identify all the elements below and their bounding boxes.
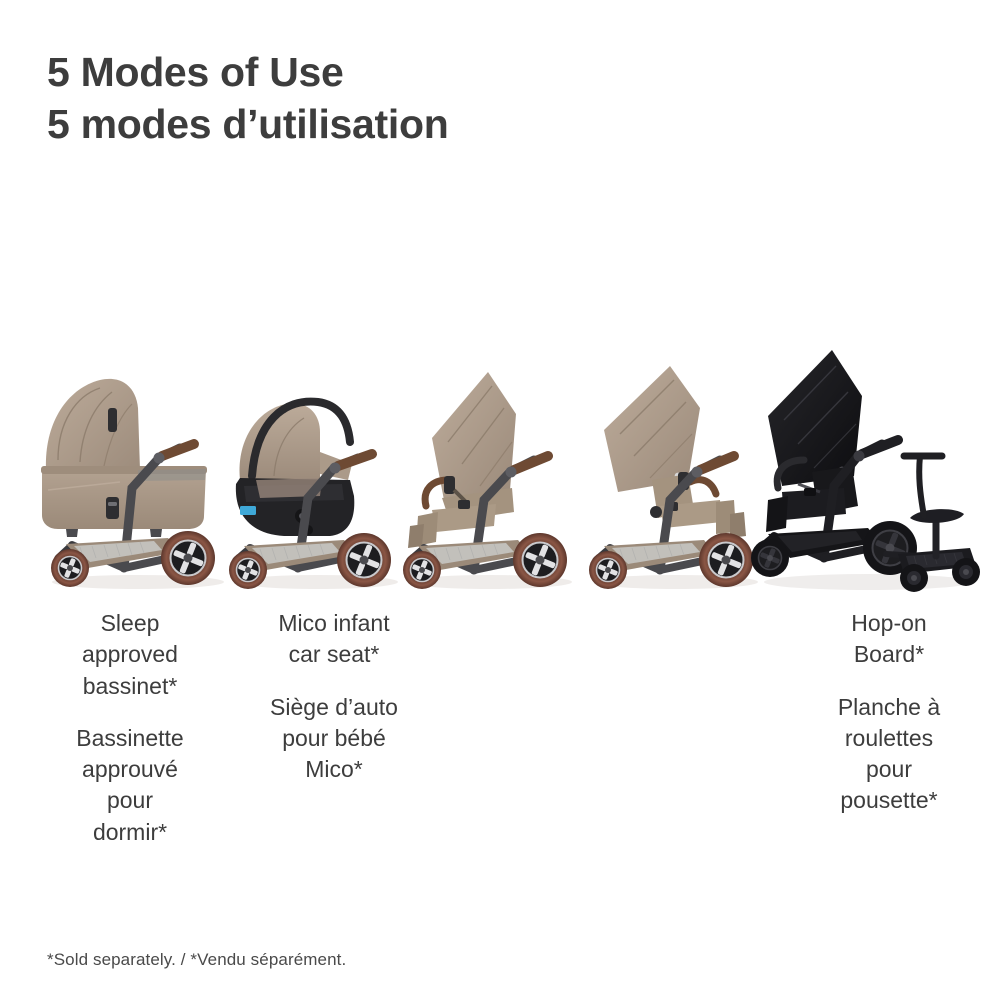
handle-post xyxy=(919,456,924,516)
handlebar-grip xyxy=(862,440,898,454)
caption-hop-on-board-fr: Planche à roulettes pour pousette* xyxy=(794,692,984,817)
rear-wheel xyxy=(513,533,567,587)
page-title-line-fr: 5 modes d’utilisation xyxy=(47,98,747,150)
page-title-line-en: 5 Modes of Use xyxy=(47,46,747,98)
handlebar-grip xyxy=(338,454,372,466)
bassinet-hood xyxy=(46,379,140,470)
caption-car-seat-fr: Siège d’auto pour bébé Mico* xyxy=(234,692,434,786)
caption-bassinet-fr: Bassinette approuvé pour dormir* xyxy=(30,723,230,848)
product-image-seat-world-facing xyxy=(578,330,773,600)
caption-row: Sleep approved bassinet* Bassinette appr… xyxy=(0,608,1000,848)
caption-car-seat-en: Mico infant car seat* xyxy=(234,608,434,671)
caption-seat-world-facing xyxy=(614,608,794,848)
product-label xyxy=(240,506,256,515)
rear-wheel xyxy=(699,533,753,587)
saddle-seat xyxy=(910,509,964,523)
caption-bassinet: Sleep approved bassinet* Bassinette appr… xyxy=(30,608,230,848)
bumper-bar xyxy=(690,480,716,494)
footrest xyxy=(766,496,788,532)
product-image-hop-on-board xyxy=(748,310,988,600)
handlebar-grip xyxy=(700,456,734,470)
handlebar-grip xyxy=(162,444,194,456)
product-image-seat-parent-facing xyxy=(392,330,587,600)
caption-hop-on-board-en: Hop-on Board* xyxy=(794,608,984,671)
caption-car-seat: Mico infant car seat* Siège d’auto pour … xyxy=(234,608,434,848)
footnote: *Sold separately. / *Vendu séparément. xyxy=(47,950,346,970)
handlebar-grip xyxy=(514,456,548,470)
front-wheel xyxy=(589,551,627,589)
board-wheel-right xyxy=(952,558,980,586)
page-title: 5 Modes of Use 5 modes d’utilisation xyxy=(47,46,747,151)
product-image-car-seat xyxy=(222,330,412,600)
caption-hop-on-board: Hop-on Board* Planche à roulettes pour p… xyxy=(794,608,984,848)
ground-shadow xyxy=(764,574,972,590)
rear-wheel xyxy=(161,531,215,585)
front-wheel xyxy=(229,551,267,589)
front-wheel xyxy=(51,549,89,587)
board-wheel-left xyxy=(900,564,928,592)
caption-bassinet-en: Sleep approved bassinet* xyxy=(30,608,230,702)
product-image-bassinet xyxy=(28,330,243,600)
front-wheel xyxy=(751,539,789,577)
product-image-row xyxy=(0,300,1000,600)
front-wheel xyxy=(403,551,441,589)
caption-seat-parent-facing xyxy=(434,608,614,848)
rear-wheel xyxy=(337,533,391,587)
